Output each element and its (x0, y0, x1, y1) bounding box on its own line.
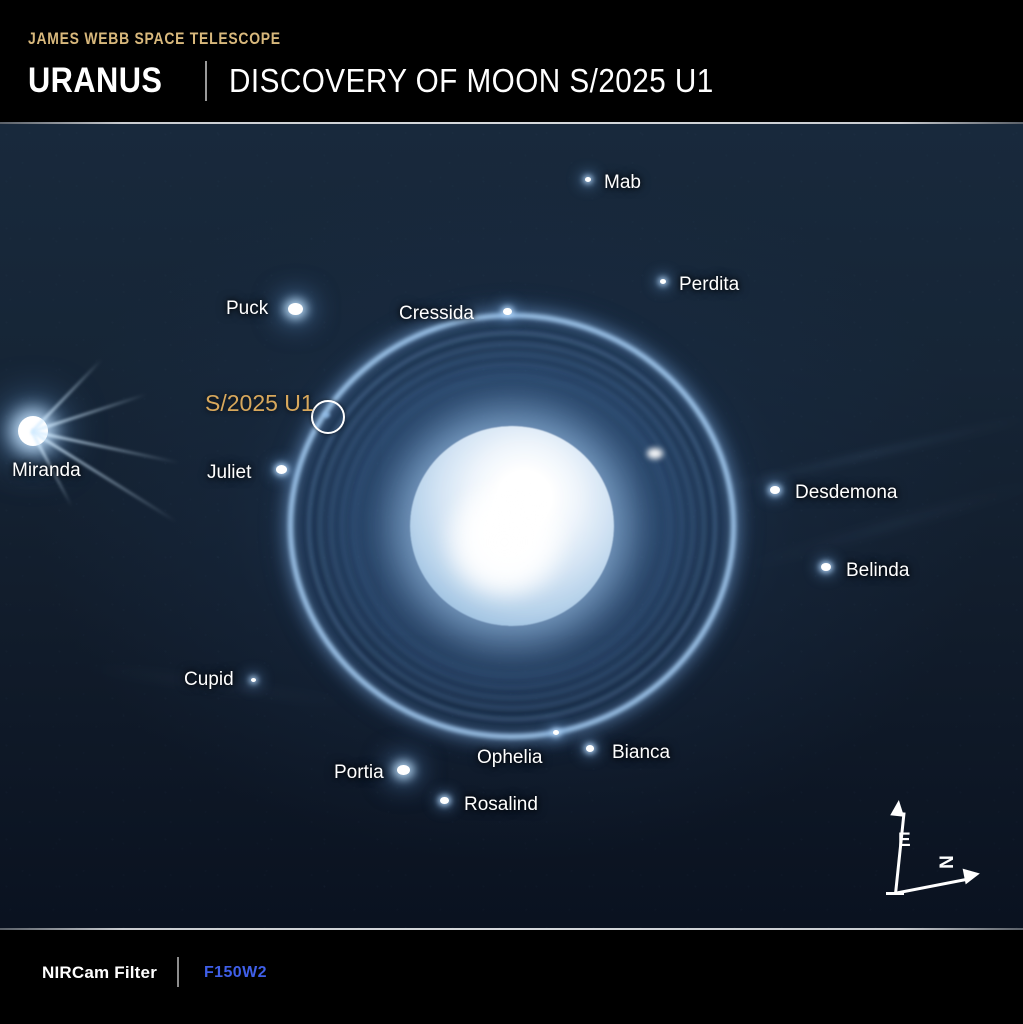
compass-arrow-e (890, 799, 906, 816)
new-moon-circle (311, 400, 345, 434)
moon-label: Perdita (679, 274, 739, 296)
moon-label: Ophelia (477, 747, 543, 769)
moon-dot (397, 765, 410, 776)
page-subtitle: DISCOVERY OF MOON S/2025 U1 (229, 62, 714, 100)
moon-label: Cressida (399, 303, 474, 325)
compass-label-n: N (937, 855, 959, 869)
moon-label: Rosalind (464, 794, 538, 816)
telescope-image: S/2025 U1 MabPerditaPuckCressidaMirandaJ… (0, 124, 1023, 928)
compass-tick (886, 892, 904, 895)
title-row: URANUS DISCOVERY OF MOON S/2025 U1 (28, 59, 767, 103)
page-title: URANUS (28, 61, 162, 101)
jwst-image-release: JAMES WEBB SPACE TELESCOPE URANUS DISCOV… (0, 0, 1023, 1024)
moon-label: Juliet (207, 462, 251, 484)
moon-label: Cupid (184, 669, 234, 691)
compass-label-e: E (898, 830, 911, 852)
moon-dot (251, 678, 256, 682)
compass-arrow-n (963, 866, 982, 885)
observatory-name: JAMES WEBB SPACE TELESCOPE (28, 29, 281, 49)
filter-divider (177, 957, 179, 987)
moon-label: Bianca (612, 742, 670, 764)
new-moon-label: S/2025 U1 (205, 390, 314, 417)
moon-label: Miranda (12, 460, 81, 482)
moon-label: Mab (604, 172, 641, 194)
header-bar: JAMES WEBB SPACE TELESCOPE URANUS DISCOV… (0, 0, 1023, 122)
moon-dot (553, 730, 559, 735)
compass-axis-horizontal (894, 878, 967, 895)
moon-dot (288, 303, 303, 315)
bright-storm-spot (647, 448, 663, 459)
moon-label: Portia (334, 762, 384, 784)
moon-dot (276, 465, 287, 474)
moon-dot (660, 279, 666, 284)
compass-rose: E N (878, 804, 998, 914)
filter-label: NIRCam Filter (42, 963, 157, 983)
moon-dot (440, 797, 449, 804)
moon-label: Puck (226, 298, 268, 320)
moon-dot (503, 308, 512, 315)
moon-dot (586, 745, 594, 752)
polar-cap (441, 484, 567, 600)
filter-value: F150W2 (204, 964, 267, 982)
moon-dot (585, 177, 591, 182)
compass-axis-vertical (894, 812, 905, 894)
moon-label: Belinda (846, 560, 909, 582)
title-divider (205, 61, 207, 101)
moon-label: Desdemona (795, 482, 897, 504)
